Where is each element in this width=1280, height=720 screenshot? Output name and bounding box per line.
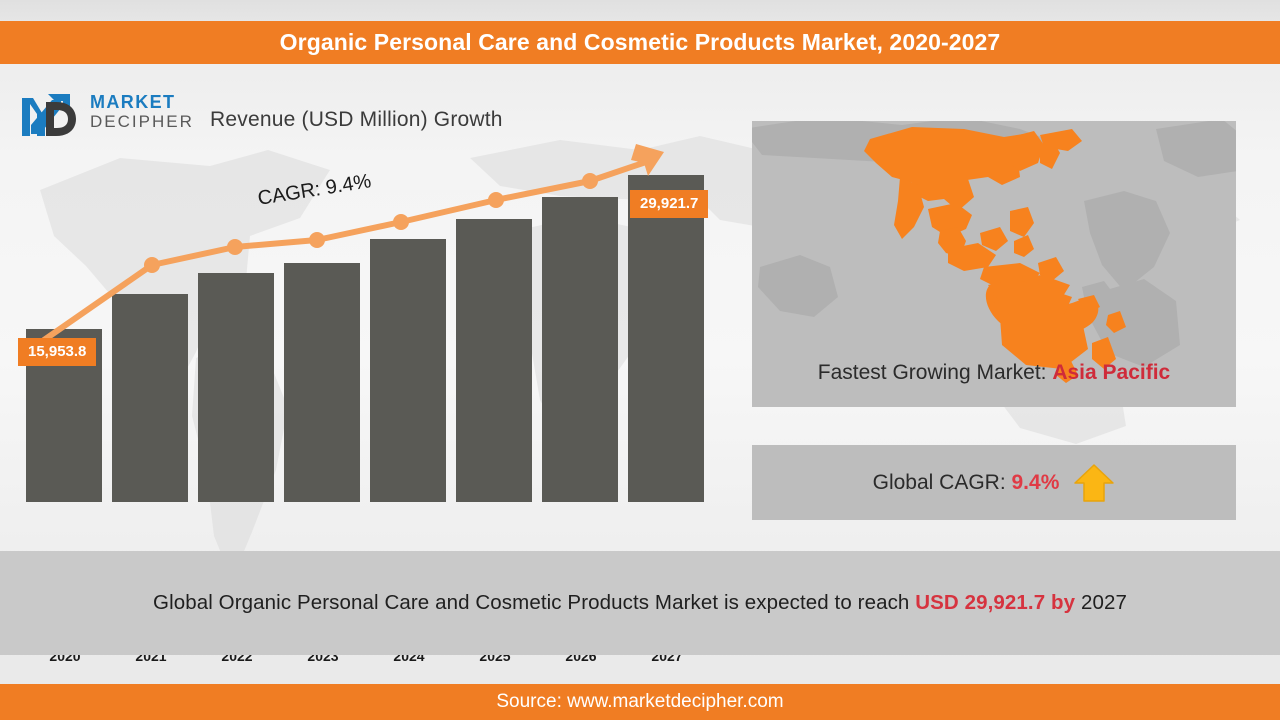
- first-value-badge: 15,953.8: [18, 338, 96, 366]
- source-text: Source: www.marketdecipher.com: [496, 691, 783, 713]
- summary-statement-band: Global Organic Personal Care and Cosmeti…: [0, 551, 1280, 655]
- last-value-badge: 29,921.7: [630, 190, 708, 218]
- page-title: Organic Personal Care and Cosmetic Produ…: [280, 29, 1001, 56]
- global-cagr-value: 9.4%: [1012, 471, 1060, 494]
- chart-title: Revenue (USD Million) Growth: [210, 108, 503, 132]
- bar-2022: [198, 273, 274, 502]
- global-cagr-panel: Global CAGR: 9.4%: [752, 445, 1236, 520]
- asia-pacific-region: [864, 127, 1126, 383]
- logo-line-market: MARKET: [90, 92, 194, 112]
- header-banner: Organic Personal Care and Cosmetic Produ…: [0, 21, 1280, 64]
- bar-2024: [370, 239, 446, 502]
- statement-highlight: USD 29,921.7 by: [915, 591, 1075, 614]
- top-edge-fade: [0, 0, 1280, 22]
- summary-statement: Global Organic Personal Care and Cosmeti…: [153, 591, 1127, 615]
- market-decipher-logo-icon: [18, 88, 84, 140]
- footer-banner: Source: www.marketdecipher.com: [0, 684, 1280, 720]
- global-cagr-label: Global CAGR:: [873, 471, 1006, 494]
- fastest-growing-market-caption: Fastest Growing Market: Asia Pacific: [752, 361, 1236, 385]
- logo-wordmark: MARKET DECIPHER: [90, 92, 194, 131]
- bar-2026: [542, 197, 618, 502]
- arrow-up-icon: [1073, 463, 1115, 503]
- bar-series: [26, 175, 704, 502]
- global-cagr-row: Global CAGR: 9.4%: [873, 471, 1060, 495]
- bar-2023: [284, 263, 360, 502]
- statement-part-1: Global Organic Personal Care and Cosmeti…: [153, 591, 909, 614]
- statement-part-2: 2027: [1081, 591, 1127, 614]
- bar-2025: [456, 219, 532, 502]
- revenue-bar-chart: 2020 2021 2022 2023 2024 2025 2026 2027: [0, 140, 740, 510]
- infographic-canvas: Organic Personal Care and Cosmetic Produ…: [0, 0, 1280, 720]
- fastest-region-value: Asia Pacific: [1052, 361, 1170, 384]
- fastest-caption-prefix: Fastest Growing Market:: [818, 361, 1047, 384]
- brand-logo: MARKET DECIPHER: [18, 86, 218, 142]
- chart-svg: [0, 140, 740, 510]
- logo-line-decipher: DECIPHER: [90, 112, 194, 131]
- bar-2027: [628, 175, 704, 502]
- bar-2021: [112, 294, 188, 502]
- fastest-growing-market-panel: Fastest Growing Market: Asia Pacific: [752, 121, 1236, 407]
